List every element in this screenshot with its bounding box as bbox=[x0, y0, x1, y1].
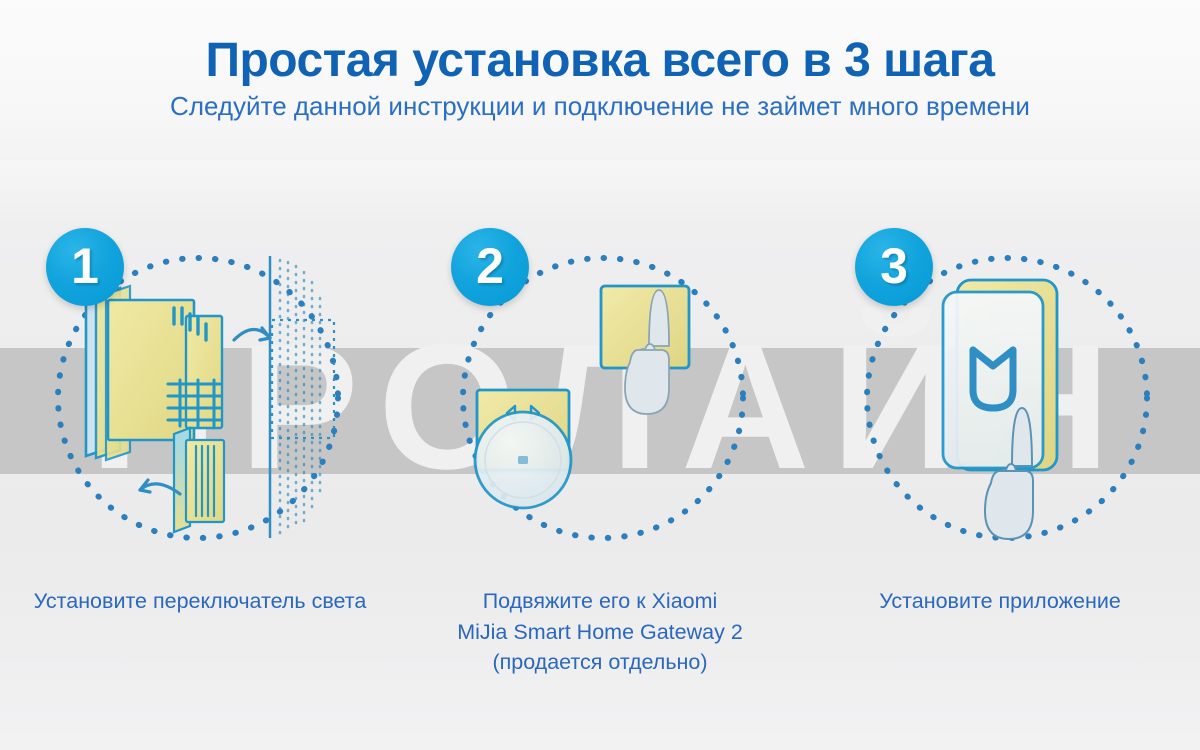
caption-line: Установите переключатель света bbox=[34, 586, 367, 617]
step-1-badge: 1 bbox=[46, 228, 124, 306]
infographic-canvas: ПРОЛАЙН Простая установка всего в 3 шага… bbox=[0, 0, 1200, 750]
step-2-badge: 2 bbox=[451, 228, 529, 306]
caption-line: Подвяжите его к Xiaomi bbox=[457, 586, 743, 617]
step-3-number: 3 bbox=[880, 241, 908, 291]
step-1: 1 Установите переключатель света bbox=[0, 160, 400, 750]
step-1-caption: Установите переключатель света bbox=[34, 586, 367, 617]
step-3-badge: 3 bbox=[855, 228, 933, 306]
step-1-illustration: 1 bbox=[48, 238, 348, 568]
gateway-logo-icon bbox=[518, 456, 528, 464]
step-3: 3 Установите приложение bbox=[800, 160, 1200, 750]
step-3-caption: Установите приложение bbox=[879, 586, 1121, 617]
step-2-illustration: 2 bbox=[453, 238, 753, 568]
step-2-caption: Подвяжите его к Xiaomi MiJia Smart Home … bbox=[457, 586, 743, 678]
step-3-illustration: 3 bbox=[857, 238, 1157, 568]
page-title: Простая установка всего в 3 шага bbox=[0, 36, 1200, 86]
header: Простая установка всего в 3 шага Следуйт… bbox=[0, 0, 1200, 160]
page-subtitle: Следуйте данной инструкции и подключение… bbox=[0, 92, 1200, 122]
step-2: 2 Подвяжите его к Xiaomi MiJia Smart Hom… bbox=[400, 160, 800, 750]
step-2-number: 2 bbox=[476, 241, 504, 291]
caption-line: Установите приложение bbox=[879, 586, 1121, 617]
step-1-number: 1 bbox=[71, 241, 99, 291]
steps-row: 1 Установите переключатель света bbox=[0, 160, 1200, 750]
caption-line: MiJia Smart Home Gateway 2 bbox=[457, 617, 743, 648]
caption-line: (продается отдельно) bbox=[457, 647, 743, 678]
